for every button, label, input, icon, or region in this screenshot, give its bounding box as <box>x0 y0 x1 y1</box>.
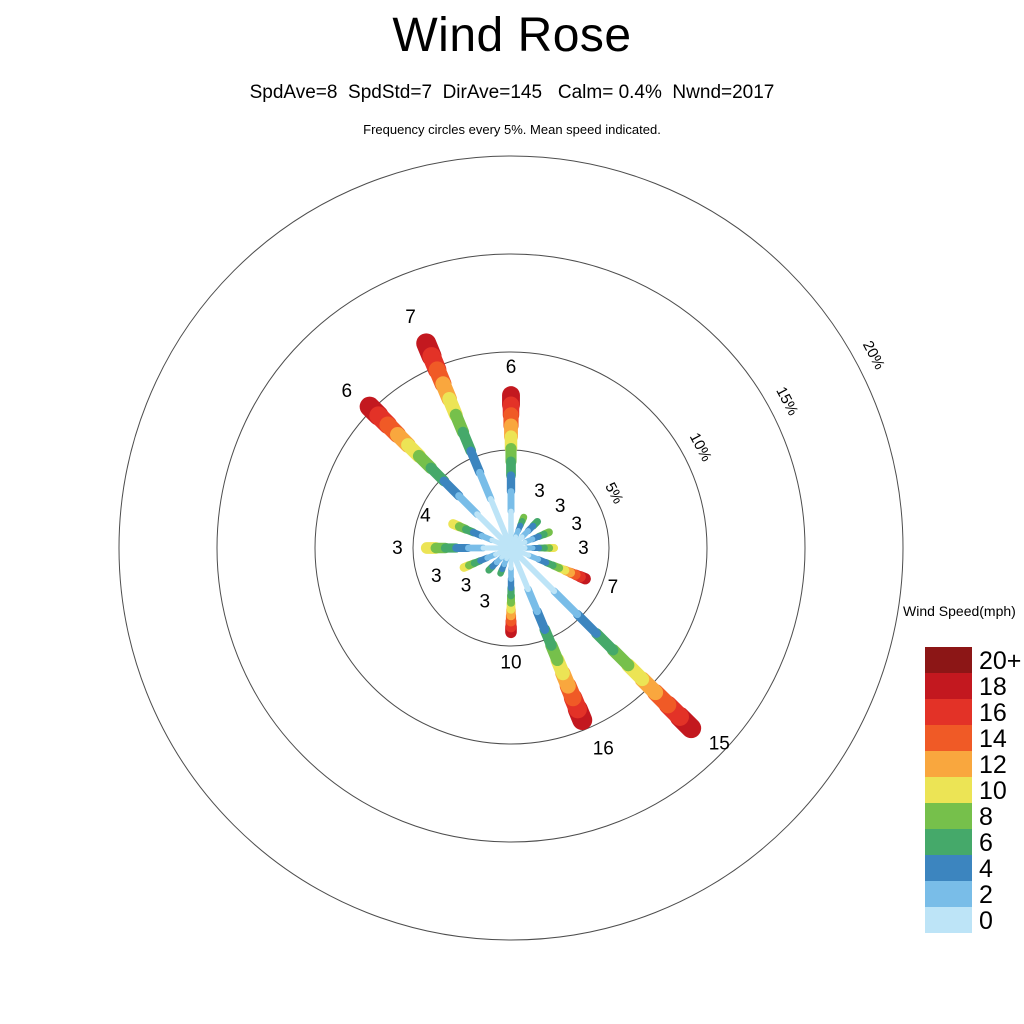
petal-mean-speed-SW: 3 <box>461 576 472 597</box>
legend-label-10: 10 <box>979 779 1024 805</box>
ring-label-20%: 20% <box>859 338 888 372</box>
petal-mean-speed-WNW: 4 <box>420 506 431 527</box>
petal-mean-speed-NNE: 3 <box>534 481 545 502</box>
legend-title: Wind Speed(mph) <box>903 603 1016 619</box>
petal-mean-speed-NW: 6 <box>342 381 353 402</box>
petal-segment-SE-4 <box>577 614 596 633</box>
petal-mean-speed-W: 3 <box>392 538 403 559</box>
petal-NW[interactable] <box>370 407 511 548</box>
legend-swatch-20plus <box>925 647 972 673</box>
petal-segment-NW-2 <box>459 496 477 514</box>
ring-label-10%: 10% <box>686 430 715 464</box>
legend-swatch-2 <box>925 881 972 907</box>
petal-mean-speed-NE: 3 <box>555 496 566 517</box>
petal-NNW[interactable] <box>426 343 511 548</box>
petal-mean-speed-E: 3 <box>578 538 589 559</box>
petal-mean-speed-WSW: 3 <box>431 566 442 587</box>
legend-swatch-0 <box>925 907 972 933</box>
legend-label-2: 2 <box>979 883 1024 909</box>
legend-label-6: 6 <box>979 831 1024 857</box>
wind-speed-legend: 20+181614121086420 <box>925 647 1024 933</box>
legend-label-8: 8 <box>979 805 1024 831</box>
petal-mean-speed-SE: 15 <box>709 734 730 755</box>
petal-SE[interactable] <box>511 548 691 728</box>
petal-segment-NNW-2 <box>480 473 491 499</box>
legend-swatch-4 <box>925 855 972 881</box>
petal-mean-speed-ESE: 7 <box>608 577 619 598</box>
legend-label-12: 12 <box>979 753 1024 779</box>
legend-swatch-16 <box>925 699 972 725</box>
legend-swatch-6 <box>925 829 972 855</box>
legend-swatch-14 <box>925 725 972 751</box>
wind-petals: 6333371516103333467 <box>342 307 730 759</box>
petal-mean-speed-N: 6 <box>506 357 517 378</box>
legend-label-20plus: 20+ <box>979 649 1024 675</box>
legend-label-14: 14 <box>979 727 1024 753</box>
petal-segment-SE-2 <box>554 591 577 614</box>
wind-rose-page: Wind Rose SpdAve=8 SpdStd=7 DirAve=145 C… <box>0 0 1024 1024</box>
petal-mean-speed-SSE: 16 <box>593 738 614 759</box>
petal-segment-SSE-2 <box>528 589 537 611</box>
ring-labels: 5%10%15%20% <box>601 338 888 507</box>
petal-mean-speed-ENE: 3 <box>571 514 582 535</box>
wind-rose-plot: 63333715161033334675%10%15%20% <box>0 0 1024 1024</box>
legend-label-4: 4 <box>979 857 1024 883</box>
legend-swatch-8 <box>925 803 972 829</box>
ring-label-5%: 5% <box>601 480 626 507</box>
legend-swatch-10 <box>925 777 972 803</box>
legend-swatch-18 <box>925 673 972 699</box>
legend-label-16: 16 <box>979 701 1024 727</box>
legend-label-0: 0 <box>979 909 1024 935</box>
petal-mean-speed-SSW: 3 <box>480 592 491 613</box>
legend-swatch-12 <box>925 751 972 777</box>
ring-label-15%: 15% <box>772 384 801 418</box>
legend-label-18: 18 <box>979 675 1024 701</box>
petal-mean-speed-S: 10 <box>500 652 521 673</box>
petal-mean-speed-NNW: 7 <box>405 307 416 328</box>
